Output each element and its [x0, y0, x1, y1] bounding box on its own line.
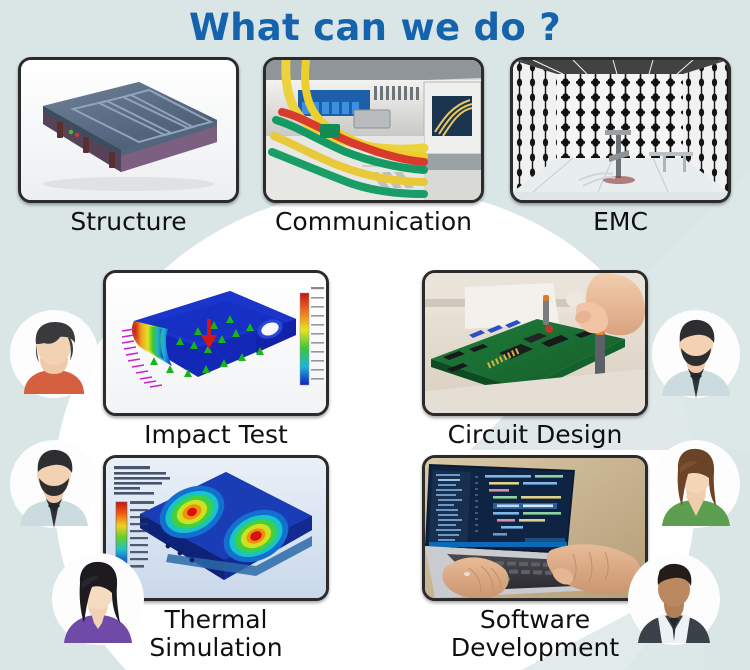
pcb-circuit-board-photo: [425, 273, 645, 413]
infographic-canvas: What can we do ?: [0, 0, 750, 670]
card-emc-label: EMC: [510, 209, 731, 235]
card-circuit[interactable]: Circuit Design: [422, 270, 648, 448]
card-impact[interactable]: Impact Test: [103, 270, 329, 448]
card-software-label-line1: Software: [422, 606, 648, 634]
card-emc[interactable]: EMC: [510, 57, 731, 235]
card-software-label: Software Development: [422, 606, 648, 661]
card-communication-frame: [263, 57, 484, 203]
avatar-man-beard-shirt-tie: [10, 440, 98, 528]
card-software-frame: [422, 455, 648, 601]
avatar-woman-long-dark-hair: [52, 553, 144, 645]
avatar-man-beard-shirt-tie: [652, 310, 740, 398]
card-software-label-line2: Development: [422, 634, 648, 662]
page-title: What can we do ?: [0, 6, 750, 49]
emc-anechoic-chamber-photo: [513, 60, 728, 200]
card-structure[interactable]: Structure: [18, 57, 239, 235]
network-switch-cables-photo: [266, 60, 481, 200]
battery-pack-cad-render: [21, 60, 236, 200]
avatar-woman-short-dark-hair: [10, 310, 98, 398]
card-communication-label: Communication: [263, 209, 484, 235]
card-structure-frame: [18, 57, 239, 203]
card-impact-label: Impact Test: [103, 422, 329, 448]
card-structure-label: Structure: [18, 209, 239, 235]
card-software[interactable]: Software Development: [422, 455, 648, 661]
fea-impact-simulation: [106, 273, 326, 413]
card-impact-frame: [103, 270, 329, 416]
card-emc-frame: [510, 57, 731, 203]
avatar-man-dark-suit: [628, 553, 720, 645]
card-circuit-frame: [422, 270, 648, 416]
card-circuit-label: Circuit Design: [422, 422, 648, 448]
avatar-woman-brown-hair-green-top: [652, 440, 740, 528]
laptop-coding-photo: [425, 458, 645, 598]
card-communication[interactable]: Communication: [263, 57, 484, 235]
